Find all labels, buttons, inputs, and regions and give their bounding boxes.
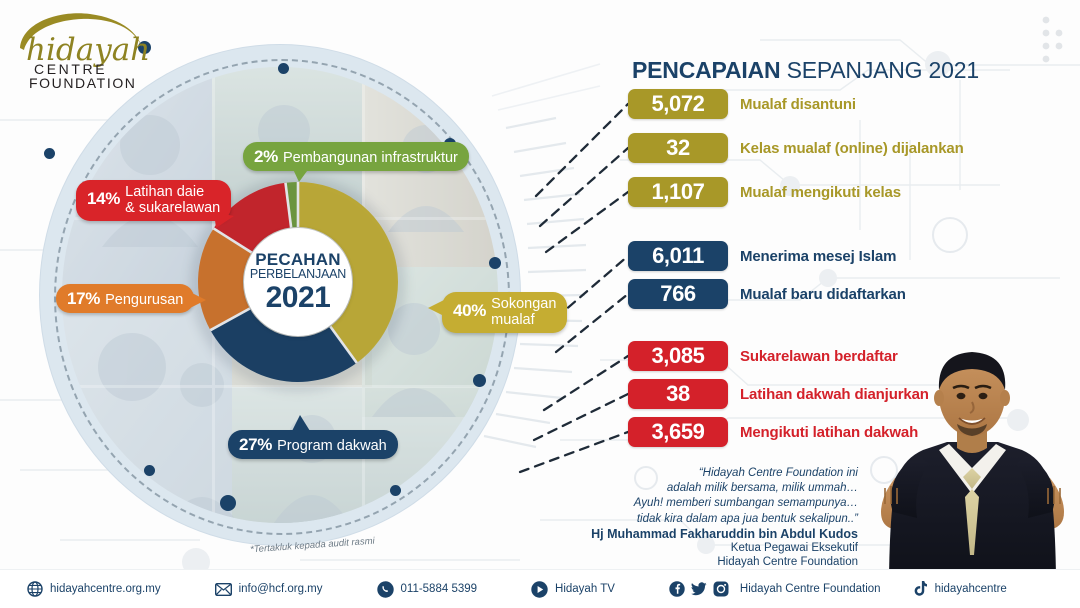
stat-label: Mualaf disantuni — [740, 96, 856, 113]
callout-percent: 40% — [453, 301, 486, 320]
footer-phone-text: 011-5884 5399 — [401, 583, 478, 595]
quote-line-4: tidak kira dalam apa jua bentuk sekalipu… — [634, 512, 858, 527]
logo-mark: hidayah CENTRE FOUNDATION — [12, 8, 162, 90]
callout-text: Pembangunan infrastruktur — [283, 150, 458, 166]
ceo-portrait-illustration — [865, 338, 1080, 578]
ceo-photo — [865, 338, 1080, 578]
donut-center-label: PECAHAN PERBELANJAAN 2021 — [244, 228, 352, 336]
globe-icon — [26, 581, 43, 598]
callout-text: Sokongan mualaf — [491, 296, 556, 328]
facebook-icon — [669, 581, 686, 598]
stat-value-chip: 766 — [628, 279, 728, 309]
callout-text: Pengurusan — [105, 292, 183, 308]
callout-percent: 27% — [239, 435, 272, 454]
envelope-icon — [215, 581, 232, 598]
footer-website[interactable]: hidayahcentre.org.my — [26, 581, 161, 598]
whatsapp-icon — [377, 581, 394, 598]
stat-value-chip: 3,085 — [628, 341, 728, 371]
ceo-role-title: Ketua Pegawai Eksekutif — [717, 541, 858, 555]
footer-email[interactable]: info@hcf.org.my — [215, 581, 323, 598]
ceo-role-org: Hidayah Centre Foundation — [717, 555, 858, 569]
callout-text-line2: mualaf — [491, 312, 556, 328]
twitter-icon — [691, 581, 708, 598]
stat-label: Mualaf baru didaftarkan — [740, 286, 906, 303]
stat-value-chip: 38 — [628, 379, 728, 409]
stat-row-mualaf-disantuni[interactable]: 5,072 Mualaf disantuni — [628, 89, 856, 119]
quote-line-1: “Hidayah Centre Foundation ini — [634, 466, 858, 481]
footer-contact-bar: hidayahcentre.org.my info@hcf.org.my 011… — [0, 569, 1080, 608]
stat-value-chip: 32 — [628, 133, 728, 163]
callout-latihan-daie[interactable]: 14% Latihan daie & sukarelawan — [76, 180, 231, 221]
stat-row-sukarelawan-berdaftar[interactable]: 3,085 Sukarelawan berdaftar — [628, 341, 898, 371]
callout-tail-navy — [292, 415, 314, 432]
stat-row-mualaf-mengikuti-kelas[interactable]: 1,107 Mualaf mengikuti kelas — [628, 177, 901, 207]
instagram-icon — [713, 581, 730, 598]
tiktok-icon — [911, 581, 928, 598]
callout-tail-red — [214, 212, 238, 230]
callout-pengurusan[interactable]: 17% Pengurusan — [56, 284, 194, 313]
footer-phone[interactable]: 011-5884 5399 — [377, 581, 478, 598]
footer-website-text: hidayahcentre.org.my — [50, 583, 161, 595]
footer-email-text: info@hcf.org.my — [239, 583, 323, 595]
callout-text-line2: & sukarelawan — [125, 200, 220, 216]
callout-text-line1: Sokongan — [491, 296, 556, 312]
ceo-name: Hj Muhammad Fakharuddin bin Abdul Kudos — [591, 527, 858, 541]
footer-youtube[interactable]: Hidayah TV — [531, 581, 615, 598]
donut-center-line2: PERBELANJAAN — [250, 268, 346, 282]
callout-sokongan-mualaf[interactable]: 40% Sokongan mualaf — [442, 292, 567, 333]
quote-line-3: Ayuh! memberi sumbangan semampunya… — [634, 496, 858, 511]
achievements-heading: PENCAPAIAN SEPANJANG 2021 — [632, 57, 979, 84]
callout-pembangunan-infrastruktur[interactable]: 2% Pembangunan infrastruktur — [243, 142, 469, 171]
donut-center-year: 2021 — [266, 283, 331, 313]
infographic-canvas: PECAHAN PERBELANJAAN 2021 2% Pembangunan… — [0, 0, 1080, 608]
stat-label: Kelas mualaf (online) dijalankan — [740, 140, 964, 157]
ceo-role: Ketua Pegawai Eksekutif Hidayah Centre F… — [717, 541, 858, 570]
callout-percent: 14% — [87, 189, 120, 208]
callout-text: Latihan daie & sukarelawan — [125, 184, 220, 216]
heading-rest: SEPANJANG 2021 — [780, 57, 979, 83]
footer-social[interactable]: Hidayah Centre Foundation — [669, 581, 881, 598]
footer-tiktok[interactable]: hidayahcentre — [911, 581, 1007, 598]
quote-line-2: adalah milik bersama, milik ummah… — [634, 481, 858, 496]
callout-percent: 2% — [254, 147, 278, 166]
stat-value-chip: 6,011 — [628, 241, 728, 271]
footer-tiktok-text: hidayahcentre — [935, 583, 1007, 595]
callout-tail-orange — [190, 292, 208, 310]
stat-value-chip: 3,659 — [628, 417, 728, 447]
donut-center-line1: PECAHAN — [255, 251, 340, 268]
stat-row-menerima-mesej-islam[interactable]: 6,011 Menerima mesej Islam — [628, 241, 896, 271]
stat-value-chip: 5,072 — [628, 89, 728, 119]
play-circle-icon — [531, 581, 548, 598]
callout-text-line1: Latihan daie — [125, 184, 204, 200]
stat-row-mualaf-baru-didaftarkan[interactable]: 766 Mualaf baru didaftarkan — [628, 279, 906, 309]
heading-bold: PENCAPAIAN — [632, 57, 780, 83]
callout-percent: 17% — [67, 289, 100, 308]
hidayah-logo: hidayah CENTRE FOUNDATION — [12, 8, 162, 90]
stat-value-chip: 1,107 — [628, 177, 728, 207]
footer-social-text: Hidayah Centre Foundation — [740, 583, 881, 595]
stat-label: Mualaf mengikuti kelas — [740, 184, 901, 201]
stat-label: Menerima mesej Islam — [740, 248, 896, 265]
ceo-quote: “Hidayah Centre Foundation ini adalah mi… — [634, 466, 858, 527]
footer-youtube-text: Hidayah TV — [555, 583, 615, 595]
logo-sub-foundation: FOUNDATION — [29, 75, 137, 90]
stat-row-kelas-mualaf-online[interactable]: 32 Kelas mualaf (online) dijalankan — [628, 133, 964, 163]
callout-program-dakwah[interactable]: 27% Program dakwah — [228, 430, 398, 459]
callout-tail-gold — [428, 300, 446, 318]
callout-text: Program dakwah — [277, 438, 387, 454]
callout-tail-green — [292, 167, 314, 183]
